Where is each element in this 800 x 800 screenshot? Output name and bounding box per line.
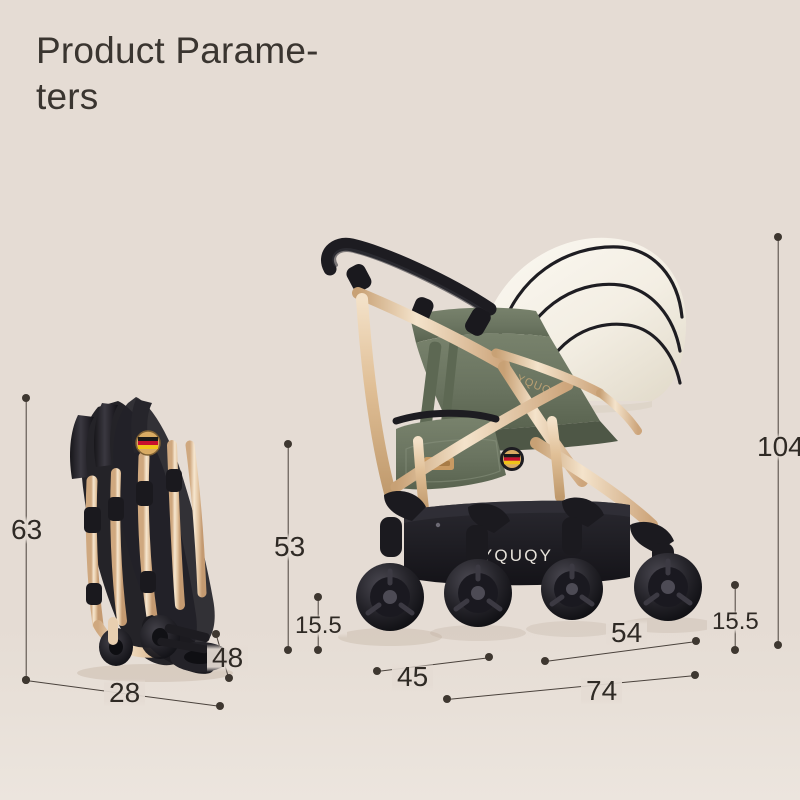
dimension-label-front-wheelbase: 45 xyxy=(392,663,433,691)
dimension-dot-overall-height-top xyxy=(774,233,782,241)
dimension-label-seat-height: 53 xyxy=(269,533,310,561)
dimension-dot-seat-height-top xyxy=(284,440,292,448)
page-title: Product Parame- ters xyxy=(36,28,376,120)
german-flag-badge xyxy=(136,431,160,455)
page-title-line1: Product Parame- xyxy=(36,30,319,71)
dimension-label-folded-width: 28 xyxy=(104,679,145,707)
dimension-dot-rear-wheel-bottom xyxy=(731,646,739,654)
dimension-dot-overall-length-left xyxy=(443,695,451,703)
dimension-label-overall-length: 74 xyxy=(581,677,622,705)
dimension-label-front-wheel-height: 15.5 xyxy=(290,614,347,638)
german-flag-badge xyxy=(500,447,524,471)
dimension-dot-front-wheel-bottom xyxy=(314,646,322,654)
open-stroller: YQUQY xyxy=(300,225,720,665)
dimension-dot-front-wheelbase-left xyxy=(373,667,381,675)
dimension-dot-front-wheelbase-right xyxy=(485,653,493,661)
dimension-dot-overall-height-bottom xyxy=(774,641,782,649)
dimension-dot-folded-width-left xyxy=(22,676,30,684)
dimension-label-rear-wheelbase: 54 xyxy=(606,619,647,647)
wheel-rear-right xyxy=(634,553,702,621)
dimension-dot-rear-wheelbase-left xyxy=(541,657,549,665)
wheel-rear-left xyxy=(541,558,603,620)
dimension-label-rear-wheel-height: 15.5 xyxy=(707,610,764,634)
dimension-dot-front-wheel-top xyxy=(314,593,322,601)
dimension-dot-folded-depth-top xyxy=(212,630,220,638)
dimension-line-overall-length xyxy=(447,675,696,700)
dimension-dot-folded-depth-bottom xyxy=(225,674,233,682)
dimension-label-folded-height: 63 xyxy=(6,516,47,544)
dimension-label-folded-depth: 48 xyxy=(207,644,248,672)
dimension-dot-seat-height-bottom xyxy=(284,646,292,654)
dimension-label-overall-height: 104 xyxy=(752,433,800,461)
dimension-dot-rear-wheel-top xyxy=(731,581,739,589)
product-parameters-diagram: Product Parame- ters xyxy=(0,0,800,800)
dimension-dot-overall-length-right xyxy=(691,671,699,679)
wheel-front-left xyxy=(356,563,424,631)
dimension-dot-rear-wheelbase-right xyxy=(692,637,700,645)
folded-stroller-graphic xyxy=(40,385,255,685)
dimension-dot-folded-height-top xyxy=(22,394,30,402)
open-stroller-graphic: YQUQY xyxy=(300,225,720,665)
wheel-front-right xyxy=(444,559,512,627)
folded-stroller xyxy=(40,385,255,685)
dimension-dot-folded-width-right xyxy=(216,702,224,710)
page-title-line2: ters xyxy=(36,76,98,117)
